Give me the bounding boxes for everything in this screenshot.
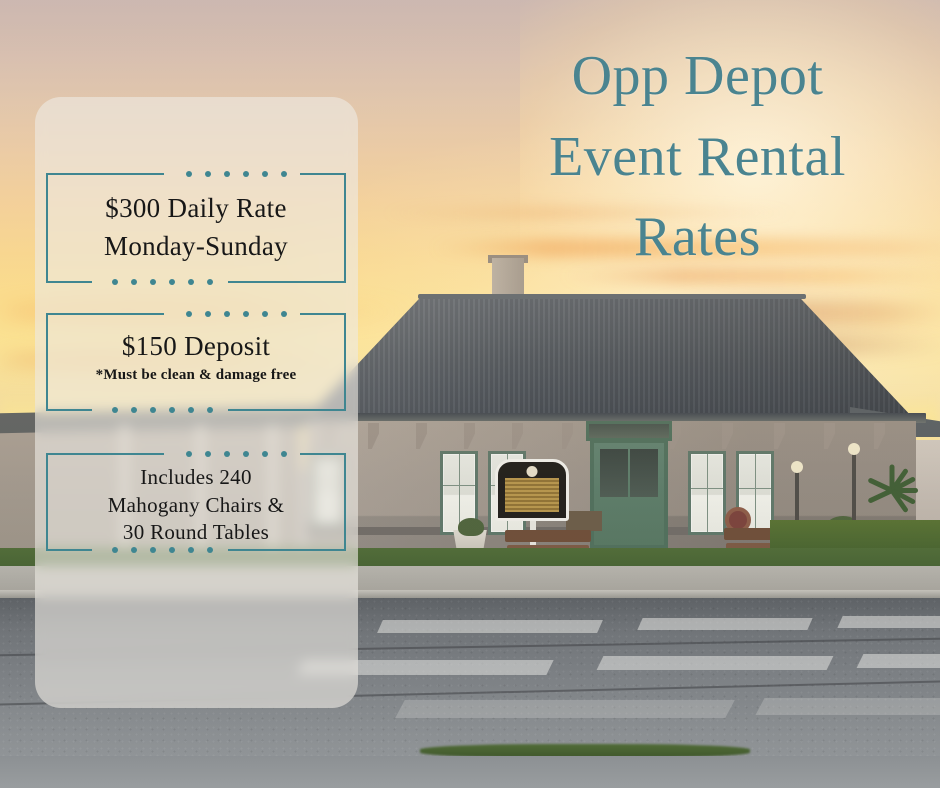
card-note: *Must be clean & damage free	[46, 367, 346, 384]
card-line: $150 Deposit	[46, 330, 346, 364]
depot-window	[688, 451, 726, 535]
crosswalk-marking	[837, 616, 940, 628]
roof-ridge	[418, 294, 806, 299]
roof-shading	[308, 295, 912, 417]
shrub	[458, 518, 484, 536]
card-border-bottom	[46, 281, 346, 283]
rate-card-inclusions: Includes 240 Mahogany Chairs & 30 Round …	[46, 453, 346, 551]
crosswalk-marking	[377, 620, 603, 633]
page-title: Opp Depot Event Rental Rates	[470, 36, 925, 278]
title-line-1: Opp Depot	[470, 36, 925, 117]
card-line: Includes 240	[46, 464, 346, 492]
card-content: $150 Deposit *Must be clean & damage fre…	[46, 313, 346, 384]
card-line: $300 Daily Rate	[46, 189, 346, 227]
poster-canvas: Opp Depot Event Rental Rates $300 Daily …	[0, 0, 940, 788]
historic-marker-sign	[495, 459, 569, 521]
crosswalk-marking	[755, 698, 940, 715]
crosswalk-marking	[597, 656, 834, 670]
far-pavement	[0, 756, 940, 788]
grass-right	[770, 520, 940, 550]
rate-card-deposit: $150 Deposit *Must be clean & damage fre…	[46, 313, 346, 411]
crosswalk-marking	[857, 654, 940, 668]
depot-entry-door	[590, 439, 668, 549]
card-line: Monday-Sunday	[46, 227, 346, 265]
title-line-2: Event Rental	[470, 117, 925, 198]
card-content: $300 Daily Rate Monday-Sunday	[46, 173, 346, 266]
wall-plaque	[566, 511, 602, 531]
card-line: 30 Round Tables	[46, 519, 346, 547]
card-content: Includes 240 Mahogany Chairs & 30 Round …	[46, 453, 346, 547]
door-transom	[586, 421, 672, 441]
card-border-bottom	[46, 549, 346, 551]
crosswalk-marking	[395, 700, 735, 718]
card-border-bottom	[46, 409, 346, 411]
rate-card-daily-rate: $300 Daily Rate Monday-Sunday	[46, 173, 346, 283]
crosswalk-marking	[637, 618, 812, 630]
card-line: Mahogany Chairs &	[46, 492, 346, 520]
title-line-3: Rates	[470, 197, 925, 278]
palm-plant	[866, 468, 922, 512]
